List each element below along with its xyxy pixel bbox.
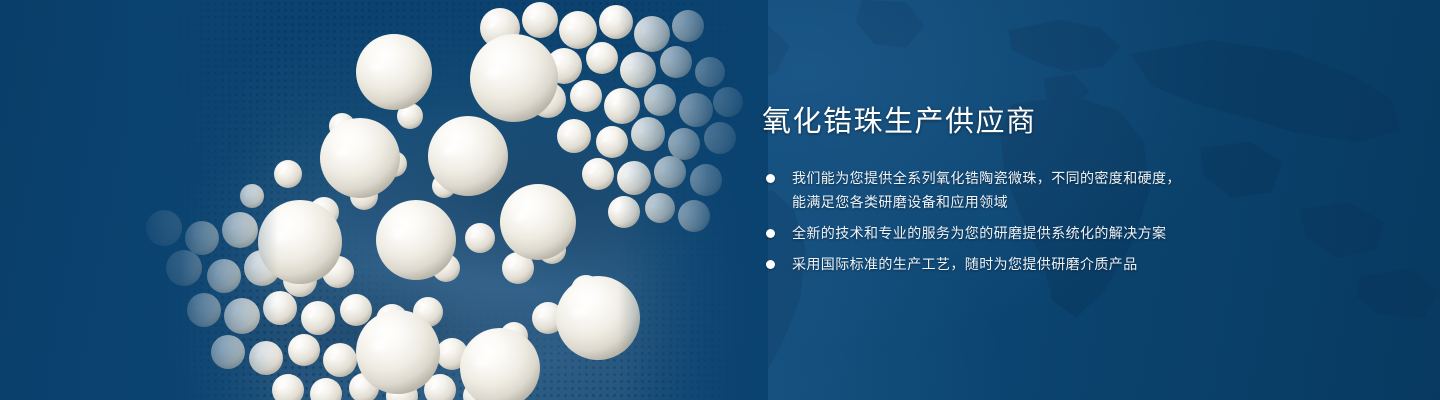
zirconia-beads-photo [128, 0, 768, 400]
photo-right-fade [618, 0, 768, 400]
list-item: 全新的技术和专业的服务为您的研磨提供系统化的解决方案 [762, 221, 1282, 245]
bullet-dot-icon [766, 229, 775, 238]
page-title: 氧化锆珠生产供应商 [762, 104, 1282, 140]
list-item: 我们能为您提供全系列氧化锆陶瓷微珠，不同的密度和硬度， 能满足您各类研磨设备和应… [762, 166, 1282, 214]
list-item-label: 我们能为您提供全系列氧化锆陶瓷微珠，不同的密度和硬度， [792, 166, 1282, 190]
banner-copy: 氧化锆珠生产供应商 我们能为您提供全系列氧化锆陶瓷微珠，不同的密度和硬度， 能满… [762, 104, 1282, 276]
photo-left-fade [128, 0, 278, 400]
list-item-label: 采用国际标准的生产工艺，随时为您提供研磨介质产品 [792, 252, 1282, 276]
list-item-label: 全新的技术和专业的服务为您的研磨提供系统化的解决方案 [792, 221, 1282, 245]
bullet-dot-icon [766, 260, 775, 269]
list-item: 采用国际标准的生产工艺，随时为您提供研磨介质产品 [762, 252, 1282, 276]
list-item-label-cont: 能满足您各类研磨设备和应用领域 [792, 190, 1282, 214]
feature-list: 我们能为您提供全系列氧化锆陶瓷微珠，不同的密度和硬度， 能满足您各类研磨设备和应… [762, 166, 1282, 276]
bullet-dot-icon [766, 174, 775, 183]
hero-banner: 氧化锆珠生产供应商 我们能为您提供全系列氧化锆陶瓷微珠，不同的密度和硬度， 能满… [0, 0, 1440, 400]
